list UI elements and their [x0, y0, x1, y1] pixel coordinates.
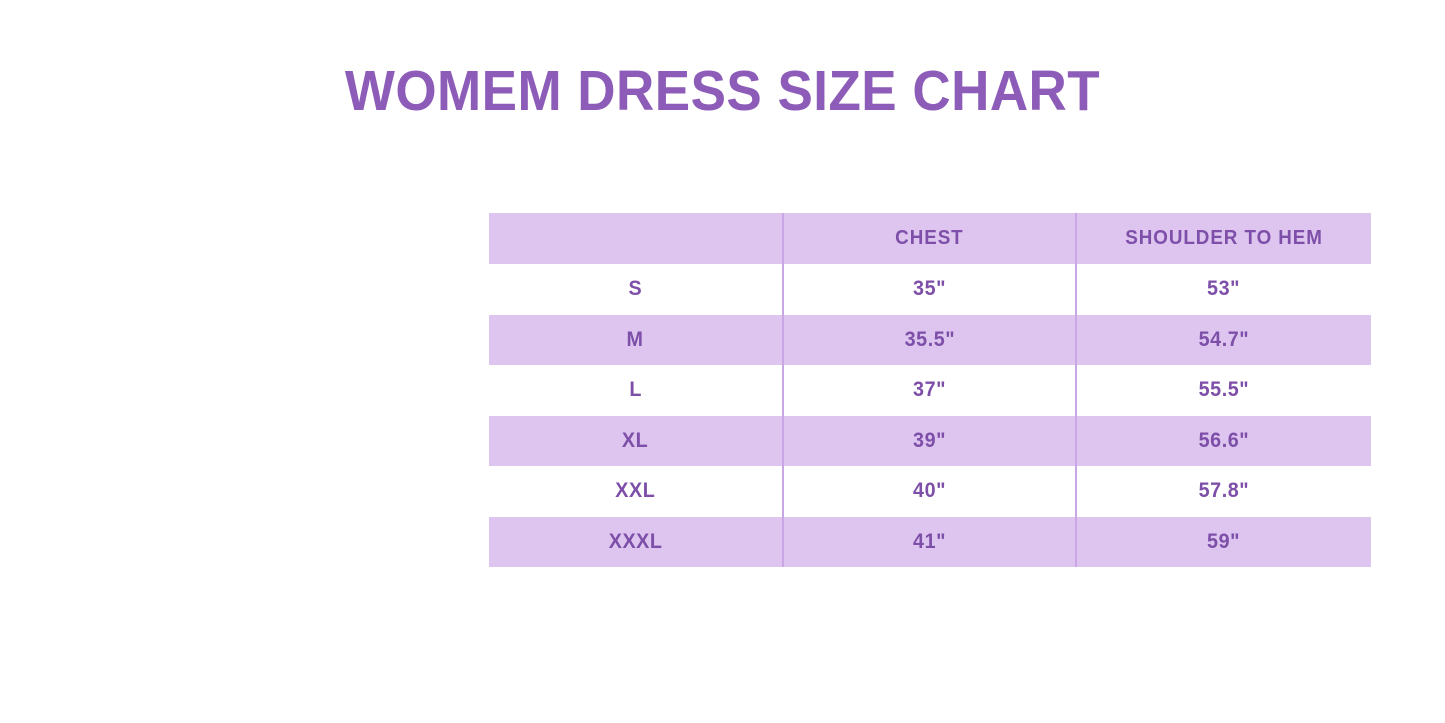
cell-chest-value: 35" — [913, 277, 946, 301]
cell-shoulder-to-hem: 55.5" — [1076, 365, 1371, 416]
cell-chest: 39" — [783, 416, 1076, 467]
cell-shoulder-to-hem-value: 57.8" — [1199, 479, 1250, 503]
cell-chest-value: 37" — [913, 378, 946, 402]
table-row: XL 39" 56.6" — [489, 416, 1371, 467]
table-row: L 37" 55.5" — [489, 365, 1371, 416]
cell-size: XL — [489, 416, 783, 467]
cell-size: XXL — [489, 466, 783, 517]
table-row: M 35.5" 54.7" — [489, 315, 1371, 366]
table-row: XXL 40" 57.8" — [489, 466, 1371, 517]
cell-shoulder-to-hem-value: 54.7" — [1199, 328, 1250, 352]
cell-size-label: L — [629, 378, 642, 402]
cell-shoulder-to-hem: 57.8" — [1076, 466, 1371, 517]
column-header-shoulder-to-hem-label: SHOULDER TO HEM — [1125, 227, 1323, 250]
cell-chest-value: 40" — [913, 479, 946, 503]
column-header-shoulder-to-hem: SHOULDER TO HEM — [1076, 213, 1371, 264]
cell-chest: 40" — [783, 466, 1076, 517]
cell-size-label: XL — [622, 429, 648, 453]
cell-size-label: XXXL — [609, 530, 663, 554]
cell-shoulder-to-hem-value: 56.6" — [1199, 429, 1250, 453]
cell-size-label: S — [629, 277, 643, 301]
table-body: S 35" 53" M 35.5" 54.7" L — [489, 264, 1371, 567]
cell-shoulder-to-hem: 59" — [1076, 517, 1371, 568]
cell-shoulder-to-hem-value: 55.5" — [1199, 378, 1250, 402]
size-chart-table: CHEST SHOULDER TO HEM S 35" 53" M 35.5" — [489, 213, 1371, 567]
cell-size: S — [489, 264, 783, 315]
column-header-chest-label: CHEST — [895, 227, 963, 250]
cell-chest: 35.5" — [783, 315, 1076, 366]
cell-size-label: XXL — [615, 479, 655, 503]
cell-size: L — [489, 365, 783, 416]
cell-size-label: M — [627, 328, 644, 352]
table-header: CHEST SHOULDER TO HEM — [489, 213, 1371, 264]
cell-shoulder-to-hem: 56.6" — [1076, 416, 1371, 467]
cell-chest-value: 35.5" — [904, 328, 955, 352]
cell-chest: 41" — [783, 517, 1076, 568]
table-header-row: CHEST SHOULDER TO HEM — [489, 213, 1371, 264]
column-header-size — [489, 213, 783, 264]
table-row: S 35" 53" — [489, 264, 1371, 315]
cell-chest-value: 41" — [913, 530, 946, 554]
page-title: WOMEM DRESS SIZE CHART — [51, 55, 1395, 127]
cell-chest-value: 39" — [913, 429, 946, 453]
cell-shoulder-to-hem: 53" — [1076, 264, 1371, 315]
table-row: XXXL 41" 59" — [489, 517, 1371, 568]
cell-chest: 35" — [783, 264, 1076, 315]
cell-chest: 37" — [783, 365, 1076, 416]
cell-size: M — [489, 315, 783, 366]
cell-shoulder-to-hem-value: 53" — [1207, 277, 1240, 301]
cell-size: XXXL — [489, 517, 783, 568]
cell-shoulder-to-hem: 54.7" — [1076, 315, 1371, 366]
cell-shoulder-to-hem-value: 59" — [1207, 530, 1240, 554]
column-header-chest: CHEST — [783, 213, 1076, 264]
